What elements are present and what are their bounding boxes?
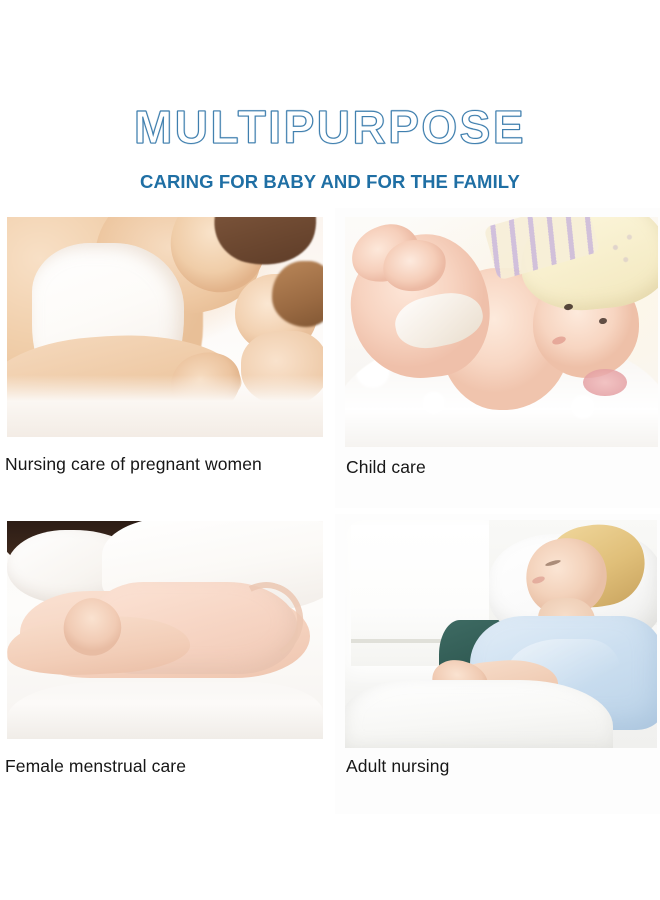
mother-with-sleeping-baby-photo [7, 217, 323, 437]
baby-in-knit-hat-photo [345, 217, 658, 447]
older-woman-in-hospital-bed-photo [345, 520, 657, 748]
page-subtitle: CARING FOR BABY AND FOR THE FAMILY [0, 173, 660, 192]
woman-lying-in-bed-photo [7, 521, 323, 739]
use-case-card-female-menstrual-care: Female menstrual care [0, 514, 330, 814]
use-case-grid: Nursing care of pregnant women Child car… [0, 208, 660, 808]
card-caption: Child care [346, 459, 426, 477]
header-banner: MULTIPURPOSE CARING FOR BABY AND FOR THE… [0, 0, 660, 208]
page-title: MULTIPURPOSE [0, 104, 660, 150]
card-caption: Nursing care of pregnant women [5, 456, 262, 474]
use-case-card-child-care: Child care [335, 208, 660, 508]
card-caption: Adult nursing [346, 758, 449, 776]
use-case-card-nursing-care-of-pregnant-women: Nursing care of pregnant women [0, 208, 330, 508]
card-caption: Female menstrual care [5, 758, 186, 776]
use-case-card-adult-nursing: Adult nursing [335, 514, 660, 814]
